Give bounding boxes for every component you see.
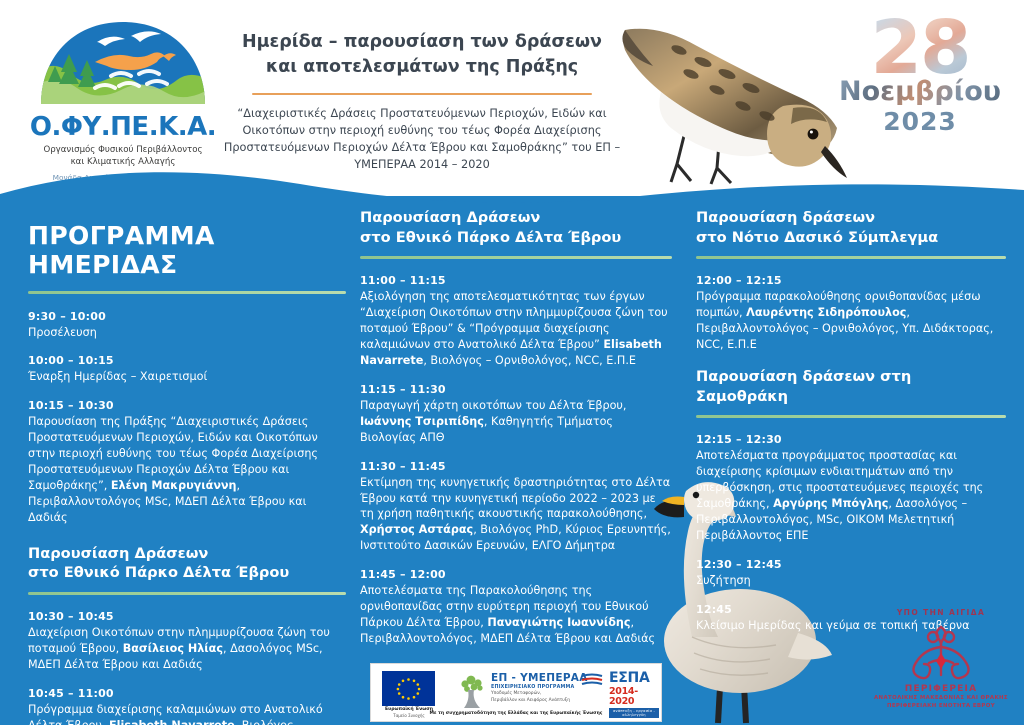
section-heading-line1: Παρουσίαση Δράσεων: [360, 209, 540, 226]
schedule-desc: Αποτελέσματα προγράμματος προστασίας και…: [696, 448, 1006, 543]
section-heading: Παρουσίαση Δράσεων στο Εθνικό Πάρκο Δέλτ…: [360, 208, 672, 247]
aegis-region-logo: ΥΠΟ ΤΗΝ ΑΙΓΙΔΑ ΠΕΡΙΦΕΡΕΙΑ ΑΝΑΤΟΛΙΚΗΣ ΜΑΚ…: [866, 608, 1016, 710]
ymeperaa-tree-icon: [455, 672, 489, 708]
event-title: Ημερίδα – παρουσίαση των δράσεων και απο…: [222, 30, 622, 80]
program-column-right: Παρουσίαση δράσεων στο Νότιο Δασικό Σύμπ…: [696, 208, 1006, 648]
ofypeka-name-line1: Οργανισμός Φυσικού Περιβάλλοντος: [43, 145, 202, 155]
schedule-time: 11:30 – 11:45: [360, 460, 672, 473]
section-heading-line2: στο Εθνικό Πάρκο Δέλτα Έβρου: [360, 229, 621, 246]
programme-sub2: Υποδομές Μεταφορών,: [491, 691, 601, 697]
programme-sub3: Περιβάλλον και Αειφόρος Ανάπτυξη: [491, 698, 601, 704]
schedule-time: 12:15 – 12:30: [696, 433, 1006, 446]
region-emblem-icon: [895, 623, 987, 681]
schedule-desc: Προσέλευση: [28, 325, 346, 341]
section-heading: Παρουσίαση δράσεων στη Σαμοθράκη: [696, 367, 1006, 406]
schedule-desc: Έναρξη Ημερίδας – Χαιρετισμοί: [28, 369, 346, 385]
schedule-item: 10:30 – 10:45 Διαχείριση Οικοτόπων στην …: [28, 610, 346, 673]
schedule-desc: Παρουσίαση της Πράξης “Διαχειριστικές Δρ…: [28, 414, 346, 525]
cofunding-note: Με τη συγχρηματοδότηση της Ελλάδας και τ…: [371, 711, 661, 716]
section-heading: Παρουσίαση δράσεων στο Νότιο Δασικό Σύμπ…: [696, 208, 1006, 247]
program-column-middle: Παρουσίαση Δράσεων στο Εθνικό Πάρκο Δέλτ…: [360, 208, 672, 661]
aegis-label: ΥΠΟ ΤΗΝ ΑΙΓΙΔΑ: [866, 608, 1016, 617]
event-year: 2023: [832, 109, 1008, 134]
schedule-time: 10:15 – 10:30: [28, 399, 346, 412]
schedule-item: 11:00 – 11:15 Αξιολόγηση της αποτελεσματ…: [360, 274, 672, 369]
schedule-time: 12:00 – 12:15: [696, 274, 1006, 287]
section-divider: [696, 415, 1006, 418]
espa-years: 2014-2020: [609, 687, 659, 706]
schedule-desc: Συζήτηση: [696, 573, 1006, 589]
schedule-item: 11:45 – 12:00 Αποτελέσματα της Παρακολού…: [360, 568, 672, 647]
section-heading: Παρουσίαση Δράσεων στο Εθνικό Πάρκο Δέλτ…: [28, 544, 346, 583]
schedule-time: 10:45 – 11:00: [28, 687, 346, 700]
schedule-desc: Παραγωγή χάρτη οικοτόπων του Δέλτα Έβρου…: [360, 398, 672, 446]
schedule-time: 10:30 – 10:45: [28, 610, 346, 623]
event-title-line2: και αποτελεσμάτων της Πράξης: [266, 57, 578, 77]
schedule-desc: Αξιολόγηση της αποτελεσματικότητας των έ…: [360, 289, 672, 369]
espa-funding-logos: Ευρωπαϊκή Ένωση Ταμείο Συνοχής ΕΠ - ΥΜΕΠ…: [370, 663, 662, 722]
schedule-item: 10:00 – 10:15 Έναρξη Ημερίδας – Χαιρετισ…: [28, 354, 346, 385]
event-date: 28 Νοεμβρίου 2023: [832, 14, 1008, 134]
section-divider: [696, 256, 1006, 259]
section-divider: [360, 256, 672, 259]
section-divider: [28, 592, 346, 595]
schedule-item: 10:45 – 11:00 Πρόγραμμα διαχείρισης καλα…: [28, 687, 346, 725]
schedule-time: 12:30 – 12:45: [696, 558, 1006, 571]
espa-swoosh-icon: [581, 672, 605, 686]
eu-flag-icon: [382, 671, 435, 706]
headline-divider: [252, 93, 592, 96]
section-heading-line2: στο Νότιο Δασικό Σύμπλεγμα: [696, 229, 938, 246]
ofypeka-acronym: Ο.ΦΥ.ΠΕ.Κ.Α.: [28, 112, 218, 142]
schedule-time: 10:00 – 10:15: [28, 354, 346, 367]
schedule-desc: Εκτίμηση της κυνηγετικής δραστηριότητας …: [360, 475, 672, 555]
schedule-item: 12:15 – 12:30 Αποτελέσματα προγράμματος …: [696, 433, 1006, 543]
schedule-desc: Αποτελέσματα της Παρακολούθησης της ορνι…: [360, 583, 672, 647]
schedule-item: 12:00 – 12:15 Πρόγραμμα παρακολούθησης ο…: [696, 274, 1006, 353]
program-column-left: ΠΡΟΓΡΑΜΜΑ ΗΜΕΡΙΔΑΣ 9:30 – 10:00 Προσέλευ…: [28, 222, 346, 725]
event-day: 28: [832, 14, 1008, 82]
schedule-time: 11:00 – 11:15: [360, 274, 672, 287]
event-title-line1: Ημερίδα – παρουσίαση των δράσεων: [242, 32, 602, 52]
section-divider: [28, 291, 346, 294]
ofypeka-emblem-icon: [35, 18, 211, 110]
schedule-item: 9:30 – 10:00 Προσέλευση: [28, 310, 346, 341]
schedule-item: 11:30 – 11:45 Εκτίμηση της κυνηγετικής δ…: [360, 460, 672, 555]
region-sub2: ΠΕΡΙΦΕΡΕΙΑΚΗ ΕΝΟΤΗΤΑ ΕΒΡΟΥ: [866, 702, 1016, 710]
schedule-item: 11:15 – 11:30 Παραγωγή χάρτη οικοτόπων τ…: [360, 383, 672, 446]
schedule-item: 10:15 – 10:30 Παρουσίαση της Πράξης “Δια…: [28, 399, 346, 525]
section-heading-line1: Παρουσίαση Δράσεων: [28, 545, 208, 562]
schedule-item: 12:30 – 12:45 Συζήτηση: [696, 558, 1006, 589]
schedule-desc: Πρόγραμμα διαχείρισης καλαμιώνων στο Ανα…: [28, 702, 346, 725]
espa-title: ΕΣΠΑ: [609, 671, 659, 685]
section-heading-line2: στο Εθνικό Πάρκο Δέλτα Έβρου: [28, 564, 289, 581]
schedule-time: 11:45 – 12:00: [360, 568, 672, 581]
event-headline: Ημερίδα – παρουσίαση των δράσεων και απο…: [222, 30, 622, 174]
schedule-desc: Διαχείριση Οικοτόπων στην πλημμυρίζουσα …: [28, 625, 346, 673]
schedule-time: 11:15 – 11:30: [360, 383, 672, 396]
schedule-desc: Πρόγραμμα παρακολούθησης ορνιθοπανίδας μ…: [696, 289, 1006, 353]
section-heading-line1: Παρουσίαση δράσεων: [696, 209, 875, 226]
region-sub1: ΑΝΑΤΟΛΙΚΗΣ ΜΑΚΕΔΟΝΙΑΣ ΚΑΙ ΘΡΑΚΗΣ: [866, 694, 1016, 702]
program-title: ΠΡΟΓΡΑΜΜΑ ΗΜΕΡΙΔΑΣ: [28, 222, 346, 280]
poster-root: Ο.ΦΥ.ΠΕ.Κ.Α. Οργανισμός Φυσικού Περιβάλλ…: [0, 0, 1024, 725]
schedule-time: 9:30 – 10:00: [28, 310, 346, 323]
region-title: ΠΕΡΙΦΕΡΕΙΑ: [866, 684, 1016, 694]
